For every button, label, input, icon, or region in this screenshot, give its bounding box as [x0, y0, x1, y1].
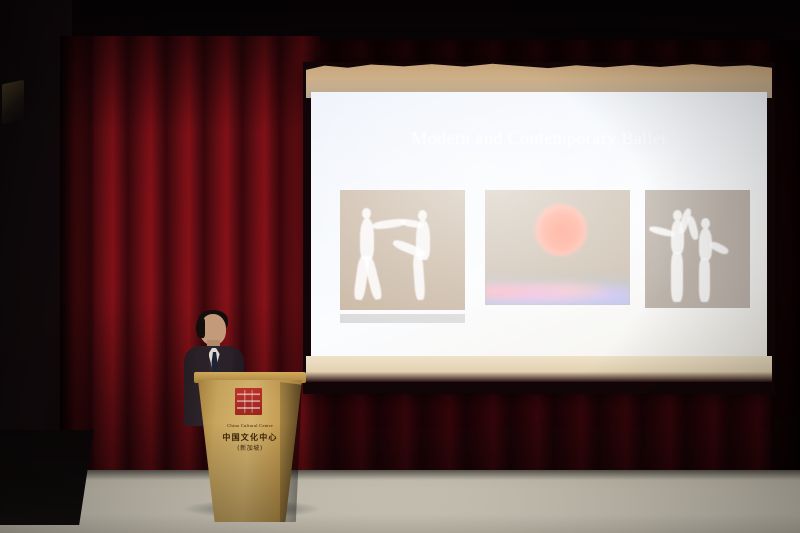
red-sun-disc: [535, 204, 587, 256]
projection-screen-bottom-band: [306, 356, 772, 382]
stage-light-fixture-icon: [2, 80, 24, 125]
auditorium-stage-photo: Modern and Contemporary Ballet: [0, 0, 800, 533]
pas-de-deux-photo: [645, 190, 750, 308]
seal-glyph-strokes: [237, 390, 260, 413]
podium-text-chinese: 中国文化中心: [208, 431, 292, 444]
curtain-left-edge-shadow: [60, 36, 94, 472]
speaking-podium: China Cultural Centre 中国文化中心 (新加坡): [194, 372, 306, 522]
slide-caption-bar: [340, 314, 465, 323]
podium-text-english: China Cultural Centre: [208, 422, 292, 429]
corps-de-ballet-ensemble: [485, 271, 630, 305]
podium-text-chinese-sub: (新加坡): [208, 444, 292, 454]
red-sun-ensemble-photo: [485, 190, 630, 305]
podium-nameplate: China Cultural Centre 中国文化中心 (新加坡): [208, 422, 292, 454]
stage-floor-shadow-line: [0, 470, 800, 480]
ballet-duet-photo: [340, 190, 465, 310]
presenter-hair-side: [196, 318, 205, 338]
slide-image-row: [330, 190, 750, 320]
slide-title: Modern and Contemporary Ballet: [311, 128, 767, 149]
